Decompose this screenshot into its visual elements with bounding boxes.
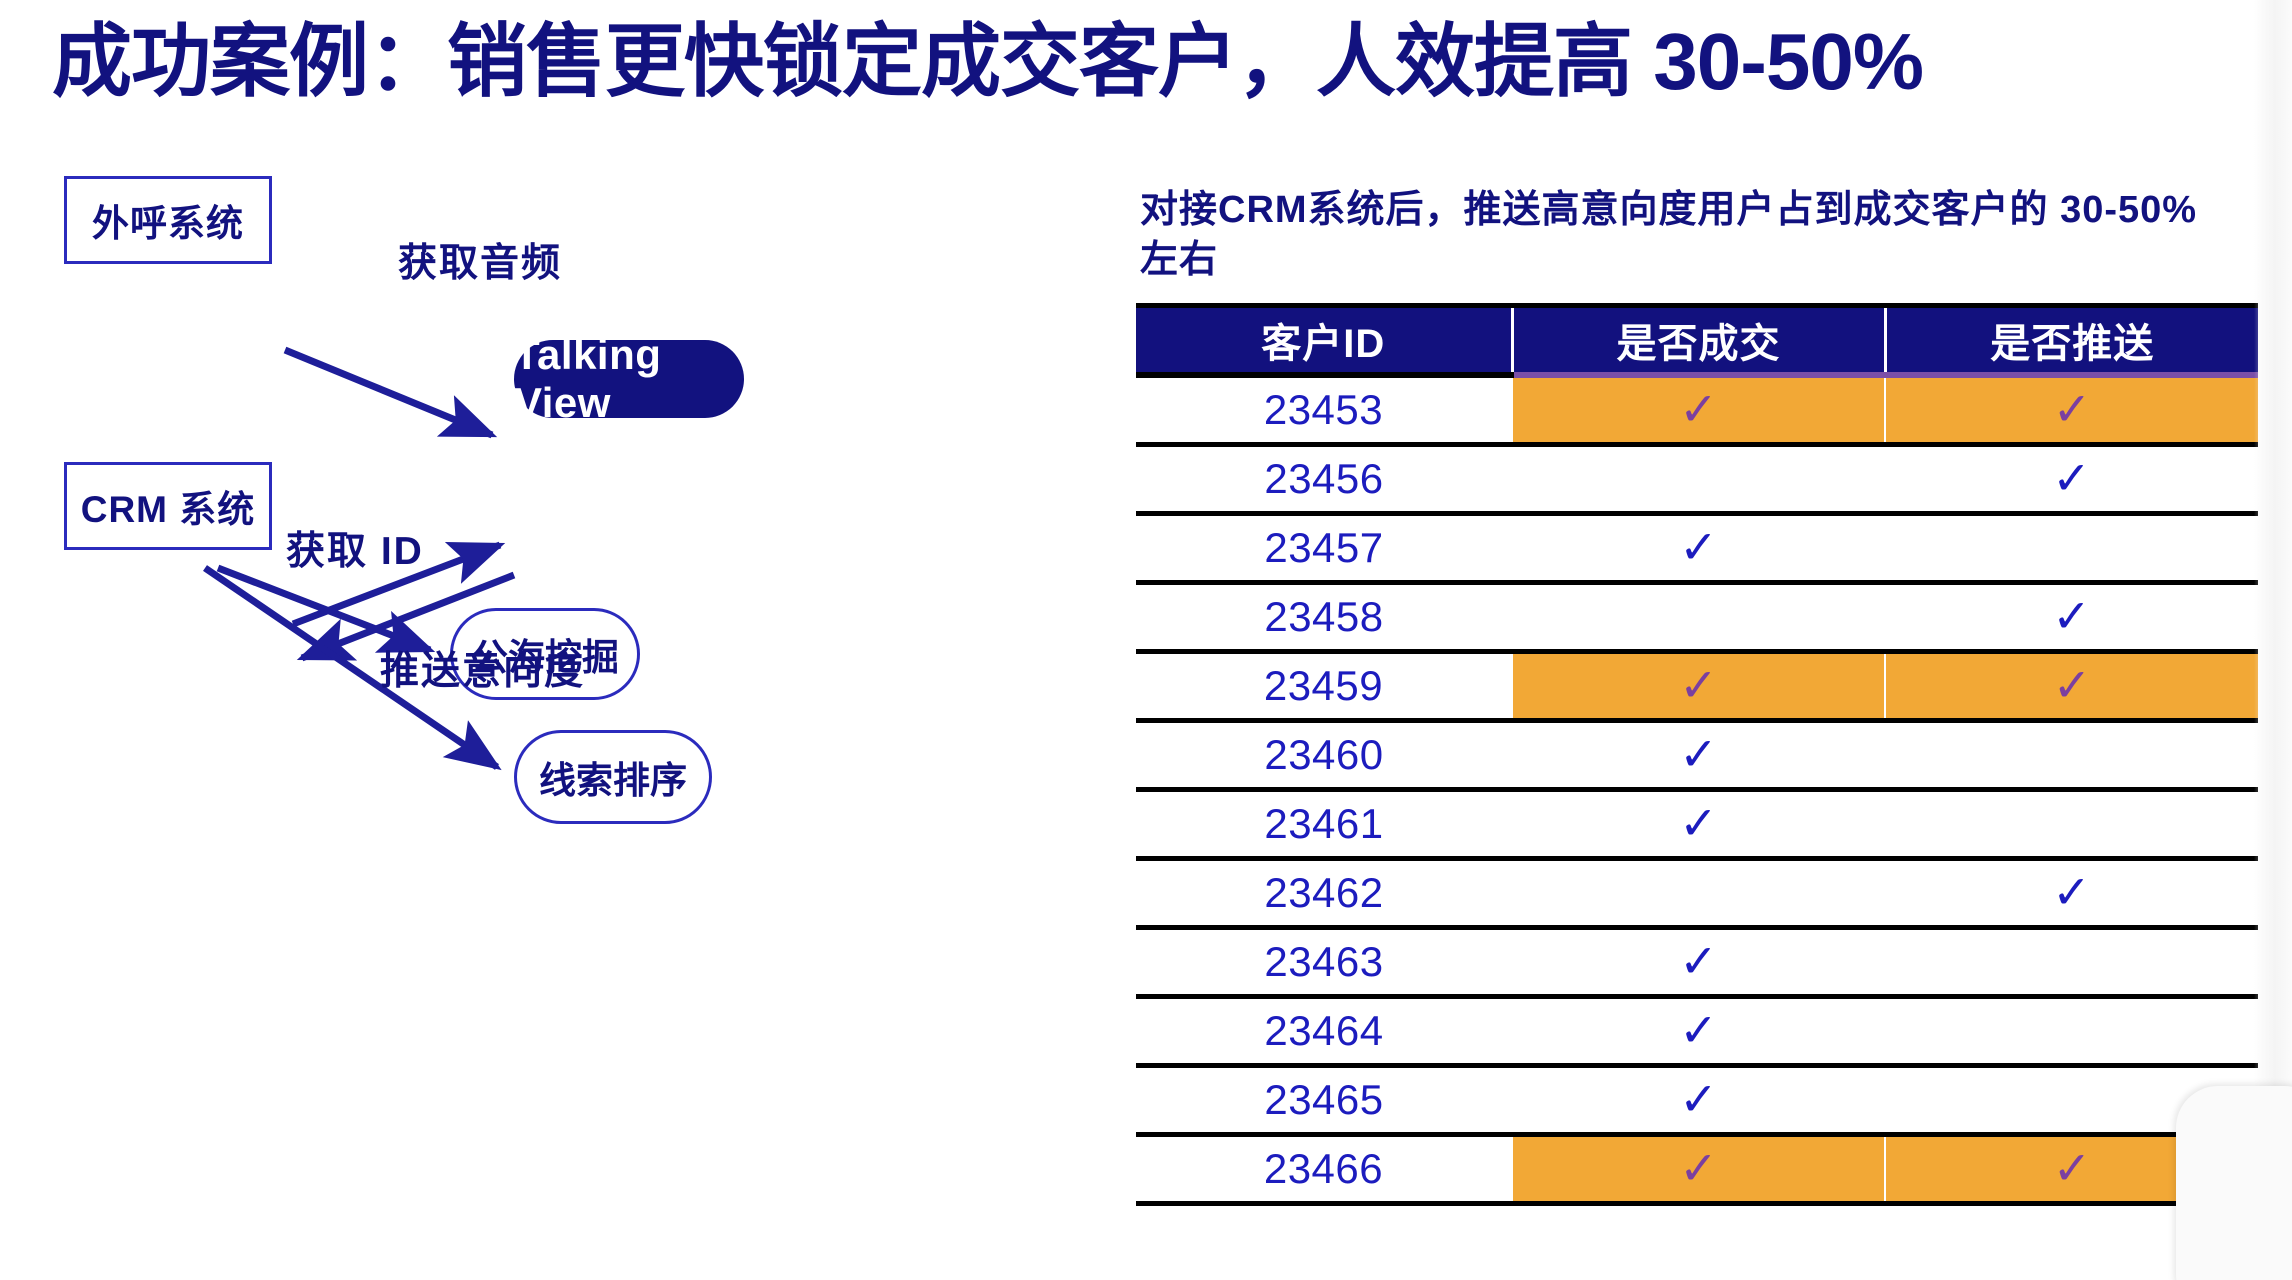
check-icon: ✓ [1679,383,1718,435]
node-crm-system[interactable]: CRM 系统 [64,462,272,550]
table-row[interactable]: 23453✓✓ [1136,375,2258,445]
cell-customer-id: 23456 [1136,445,1512,514]
check-icon: ✓ [1679,797,1718,849]
table-row[interactable]: 23463✓✓ [1136,928,2258,997]
cell-is-pushed: ✓ [1885,997,2258,1066]
node-outbound-system-label: 外呼系统 [92,193,244,247]
check-icon: ✓ [2053,383,2092,435]
node-outbound-system[interactable]: 外呼系统 [64,176,272,264]
cell-is-pushed: ✓ [1885,721,2258,790]
table-row[interactable]: 23464✓✓ [1136,997,2258,1066]
cell-customer-id: 23458 [1136,583,1512,652]
customer-table: 客户ID 是否成交 是否推送 23453✓✓23456✓✓23457✓✓2345… [1136,303,2258,1206]
column-header-is-deal: 是否成交 [1512,306,1885,376]
table-row[interactable]: 23460✓✓ [1136,721,2258,790]
cell-is-deal: ✓ [1512,928,1885,997]
cell-is-pushed: ✓ [1885,1135,2258,1204]
cell-customer-id: 23460 [1136,721,1512,790]
node-lead-sort[interactable]: 线索排序 [514,730,712,824]
cell-customer-id: 23453 [1136,375,1512,445]
check-icon: ✓ [1679,1073,1718,1125]
edge-label-get-id: 获取 ID [286,520,424,576]
edge-label-push-intent: 推送意向度 [380,640,585,696]
table-header-row: 客户ID 是否成交 是否推送 [1136,306,2258,376]
cell-is-deal: ✓ [1512,859,1885,928]
table-row[interactable]: 23461✓✓ [1136,790,2258,859]
cell-customer-id: 23459 [1136,652,1512,721]
cell-is-pushed: ✓ [1885,375,2258,445]
cell-is-deal: ✓ [1512,790,1885,859]
check-icon: ✓ [1679,935,1718,987]
check-icon: ✓ [1679,1142,1718,1194]
cell-is-pushed: ✓ [1885,859,2258,928]
cell-is-pushed: ✓ [1885,445,2258,514]
cell-is-pushed: ✓ [1885,1066,2258,1135]
check-icon: ✓ [1679,521,1718,573]
column-header-customer-id: 客户ID [1136,306,1512,376]
table-row[interactable]: 23457✓✓ [1136,514,2258,583]
edge-label-get-audio: 获取音频 [398,232,562,288]
node-lead-sort-label: 线索排序 [539,750,687,804]
check-icon: ✓ [1679,1004,1718,1056]
cell-is-deal: ✓ [1512,997,1885,1066]
cell-is-deal: ✓ [1512,445,1885,514]
check-icon: ✓ [2052,452,2091,504]
cell-customer-id: 23465 [1136,1066,1512,1135]
check-icon: ✓ [2053,1142,2092,1194]
check-icon: ✓ [1679,728,1718,780]
cell-is-deal: ✓ [1512,721,1885,790]
flow-diagram: 外呼系统 CRM 系统 Talking View 公海挖掘 线索排序 获取音频 … [0,150,1120,1280]
cell-is-pushed: ✓ [1885,790,2258,859]
panel-subtitle: 对接CRM系统后，推送高意向度用户占到成交客户的 30-50% 左右 [1140,185,2245,285]
table-header: 客户ID 是否成交 是否推送 [1136,306,2258,376]
check-icon: ✓ [1679,659,1718,711]
cell-is-deal: ✓ [1512,1066,1885,1135]
diagram-connectors [0,150,1120,1280]
cell-is-pushed: ✓ [1885,583,2258,652]
cell-is-deal: ✓ [1512,583,1885,652]
cell-is-deal: ✓ [1512,1135,1885,1204]
node-crm-system-label: CRM 系统 [81,479,256,533]
table-row[interactable]: 23466✓✓ [1136,1135,2258,1204]
table-row[interactable]: 23462✓✓ [1136,859,2258,928]
cell-is-deal: ✓ [1512,375,1885,445]
table-row[interactable]: 23465✓✓ [1136,1066,2258,1135]
edge-get-audio [285,350,492,435]
cell-is-deal: ✓ [1512,514,1885,583]
cell-customer-id: 23457 [1136,514,1512,583]
check-icon: ✓ [2052,866,2091,918]
cell-customer-id: 23463 [1136,928,1512,997]
results-panel: 对接CRM系统后，推送高意向度用户占到成交客户的 30-50% 左右 客户ID … [1136,185,2266,1206]
cell-is-deal: ✓ [1512,652,1885,721]
cell-is-pushed: ✓ [1885,652,2258,721]
column-header-is-pushed: 是否推送 [1885,306,2258,376]
cell-is-pushed: ✓ [1885,514,2258,583]
cell-customer-id: 23464 [1136,997,1512,1066]
cell-customer-id: 23462 [1136,859,1512,928]
check-icon: ✓ [2052,590,2091,642]
table-row[interactable]: 23456✓✓ [1136,445,2258,514]
cell-is-pushed: ✓ [1885,928,2258,997]
check-icon: ✓ [2053,659,2092,711]
table-body: 23453✓✓23456✓✓23457✓✓23458✓✓23459✓✓23460… [1136,375,2258,1204]
node-talking-view[interactable]: Talking View [514,340,744,418]
slide-canvas: 成功案例：销售更快锁定成交客户，人效提高 30-50% 外呼系统 CR [0,0,2292,1280]
page-title: 成功案例：销售更快锁定成交客户，人效提高 30-50% [52,18,2232,106]
table-row[interactable]: 23459✓✓ [1136,652,2258,721]
table-row[interactable]: 23458✓✓ [1136,583,2258,652]
node-talking-view-label: Talking View [514,331,744,427]
cell-customer-id: 23461 [1136,790,1512,859]
cell-customer-id: 23466 [1136,1135,1512,1204]
